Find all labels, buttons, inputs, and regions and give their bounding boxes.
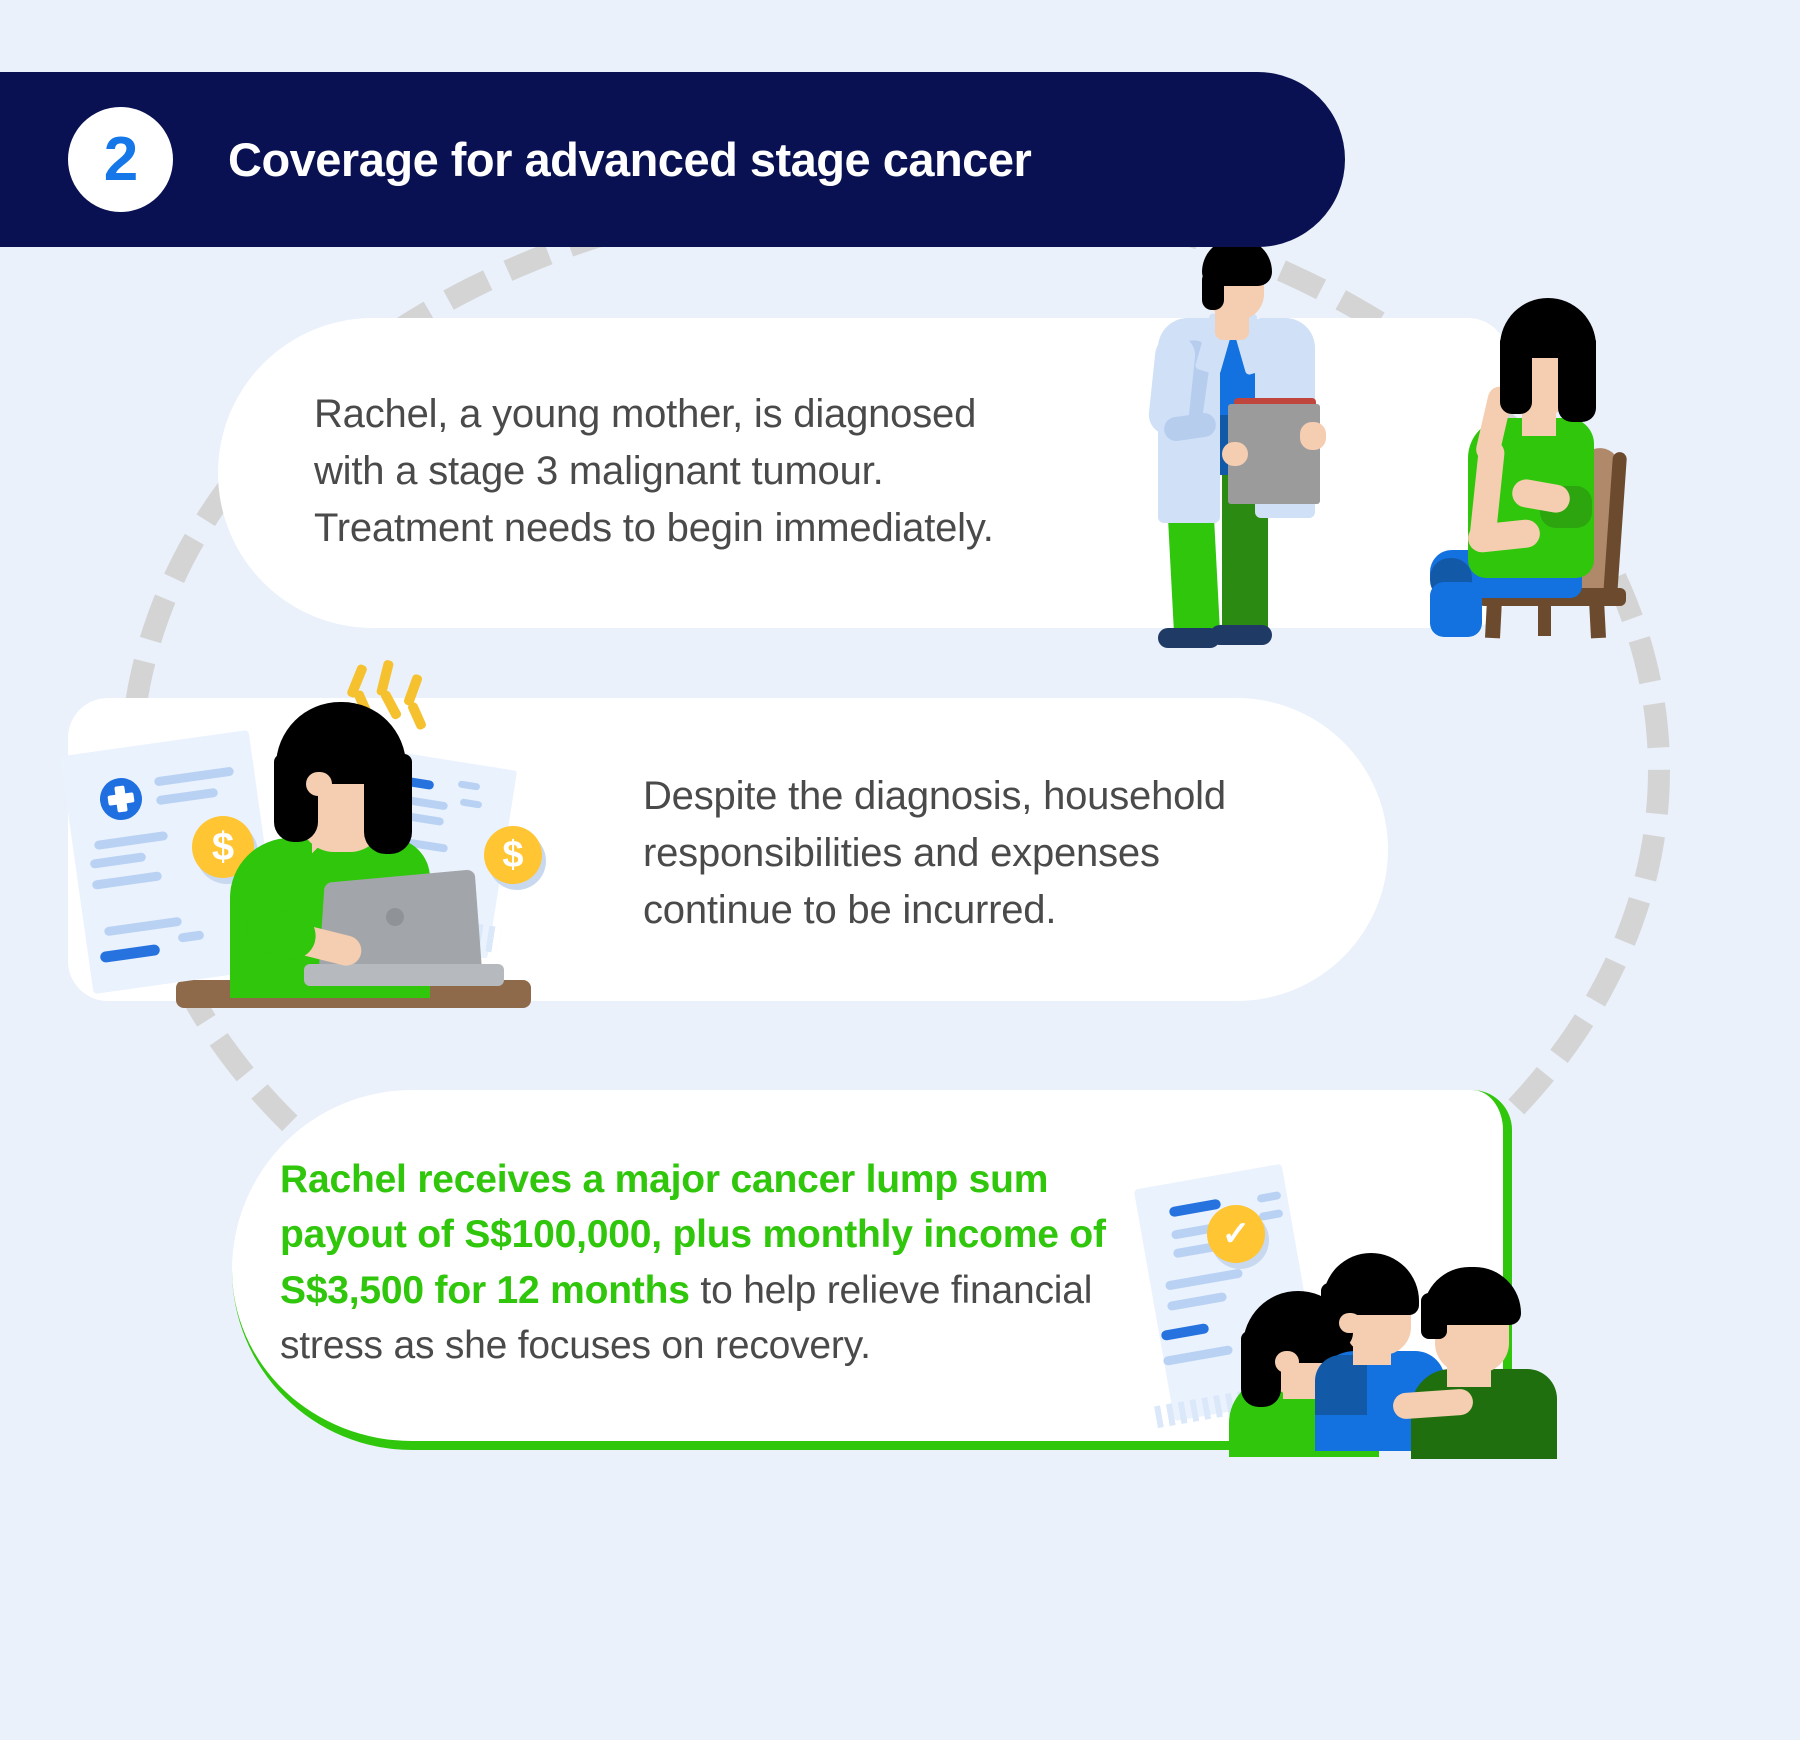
card1-line-2: with a stage 3 malignant tumour. [314,443,1134,500]
story-card-2: Despite the diagnosis, household respons… [68,698,1388,1001]
section-header-bar: 2 Coverage for advanced stage cancer [0,72,1345,247]
story-card-2-text: Despite the diagnosis, household respons… [643,768,1343,938]
card2-line-2: responsibilities and expenses [643,825,1343,882]
step-number-badge: 2 [68,107,173,212]
story-card-3-text: Rachel receives a major cancer lump sum … [280,1152,1170,1374]
page-title: Coverage for advanced stage cancer [228,132,1031,187]
story-card-1: Rachel, a young mother, is diagnosed wit… [218,318,1508,628]
card2-line-1: Despite the diagnosis, household [643,768,1343,825]
step-number-label: 2 [104,129,137,191]
story-card-1-text: Rachel, a young mother, is diagnosed wit… [314,386,1134,556]
stress-lines-icon [346,663,368,698]
infographic-root: 2 Coverage for advanced stage cancer Rac… [0,0,1800,1740]
card1-line-3: Treatment needs to begin immediately. [314,500,1134,557]
card2-line-3: continue to be incurred. [643,882,1343,939]
card1-line-1: Rachel, a young mother, is diagnosed [314,386,1134,443]
story-card-3: Rachel receives a major cancer lump sum … [232,1090,1512,1450]
